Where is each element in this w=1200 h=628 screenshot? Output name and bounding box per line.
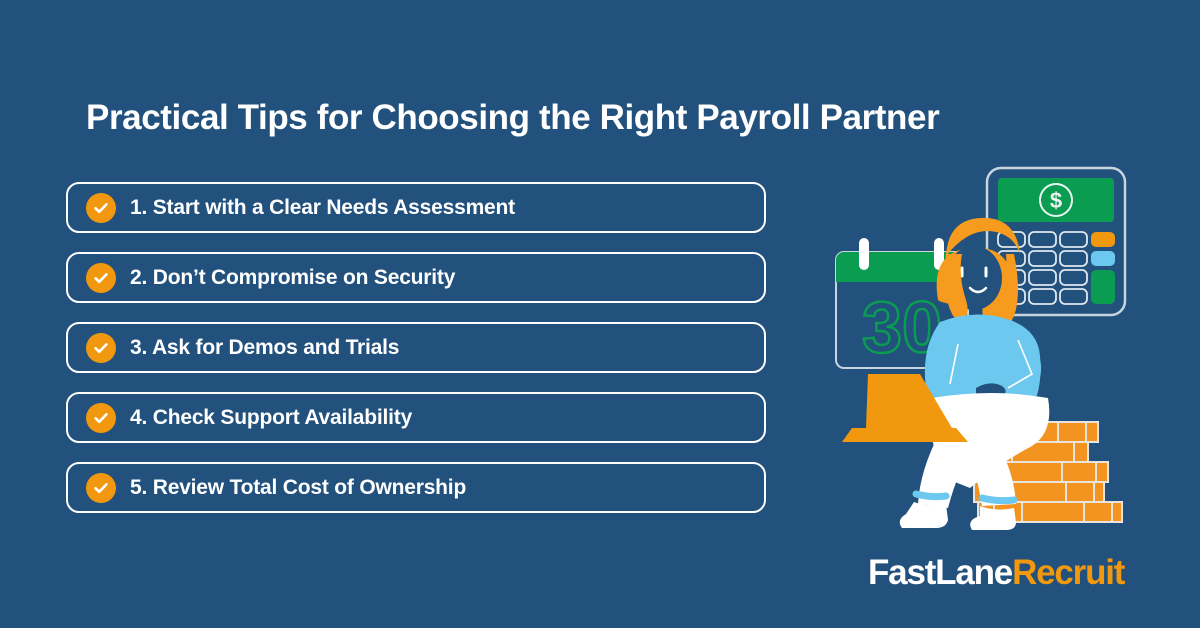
list-item[interactable]: 3. Ask for Demos and Trials — [66, 322, 766, 373]
list-item[interactable]: 4. Check Support Availability — [66, 392, 766, 443]
promo-banner: Practical Tips for Choosing the Right Pa… — [0, 0, 1200, 628]
list-item[interactable]: 2. Don’t Compromise on Security — [66, 252, 766, 303]
list-item-label: 5. Review Total Cost of Ownership — [130, 476, 466, 500]
list-item[interactable]: 1. Start with a Clear Needs Assessment — [66, 182, 766, 233]
page-title: Practical Tips for Choosing the Right Pa… — [86, 94, 1126, 142]
payroll-illustration: $ — [810, 150, 1190, 540]
check-circle-icon — [86, 263, 116, 293]
checklist: 1. Start with a Clear Needs Assessment 2… — [66, 182, 766, 532]
check-circle-icon — [86, 473, 116, 503]
list-item-label: 1. Start with a Clear Needs Assessment — [130, 196, 515, 220]
check-circle-icon — [86, 403, 116, 433]
check-circle-icon — [86, 333, 116, 363]
list-item-label: 3. Ask for Demos and Trials — [130, 336, 399, 360]
check-circle-icon — [86, 193, 116, 223]
brand-logo-part-two: Recruit — [1012, 553, 1124, 592]
list-item[interactable]: 5. Review Total Cost of Ownership — [66, 462, 766, 513]
brand-logo-part-one: FastLane — [868, 553, 1012, 592]
list-item-label: 2. Don’t Compromise on Security — [130, 266, 455, 290]
brand-logo: FastLaneRecruit — [868, 553, 1124, 593]
svg-text:$: $ — [1050, 188, 1062, 213]
list-item-label: 4. Check Support Availability — [130, 406, 412, 430]
